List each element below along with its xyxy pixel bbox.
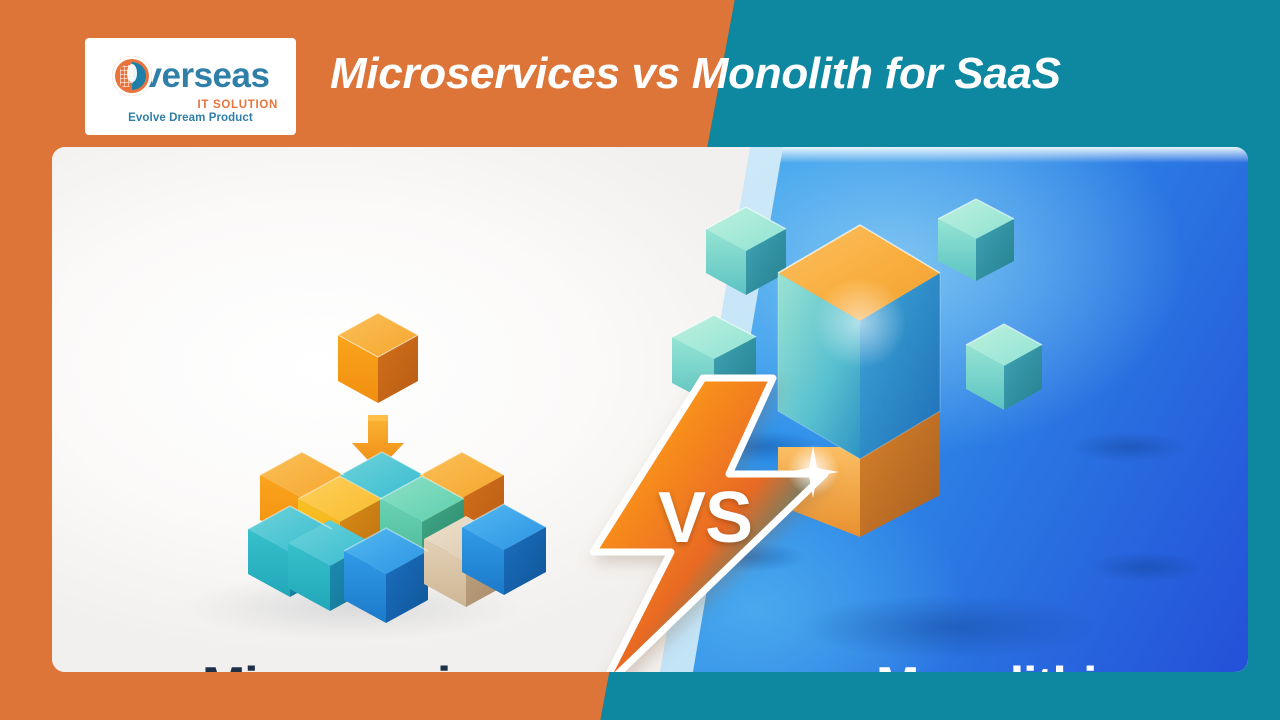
logo[interactable]: verseas IT SOLUTION Evolve Dream Product <box>85 38 296 135</box>
logo-tagline-primary: IT SOLUTION <box>85 99 296 111</box>
satellite-cube-top-left <box>706 207 786 295</box>
globe-brain-emblem-icon <box>112 56 152 96</box>
comparison-card: Microservice Architecture <box>52 147 1248 672</box>
logo-tagline-secondary: Evolve Dream Product <box>128 112 253 124</box>
lightning-bolt-icon <box>567 372 857 672</box>
logo-wordmark: verseas <box>143 58 270 93</box>
microservice-label: Microservice Architecture <box>202 660 506 672</box>
microservice-label-line-1: Microservice <box>202 660 506 672</box>
versus-badge: VS <box>567 372 857 672</box>
satellite-cube-top-right <box>938 199 1014 281</box>
monolith-label: Monolithic Architecture <box>876 660 1168 672</box>
header: verseas IT SOLUTION Evolve Dream Product… <box>0 0 1280 147</box>
monolith-label-line-1: Monolithic <box>876 660 1168 672</box>
satellite-cube-bottom-right <box>966 324 1042 410</box>
page-title: Microservices vs Monolith for SaaS <box>330 0 1061 147</box>
source-cube <box>338 313 418 403</box>
logo-lockup: verseas <box>112 54 270 98</box>
